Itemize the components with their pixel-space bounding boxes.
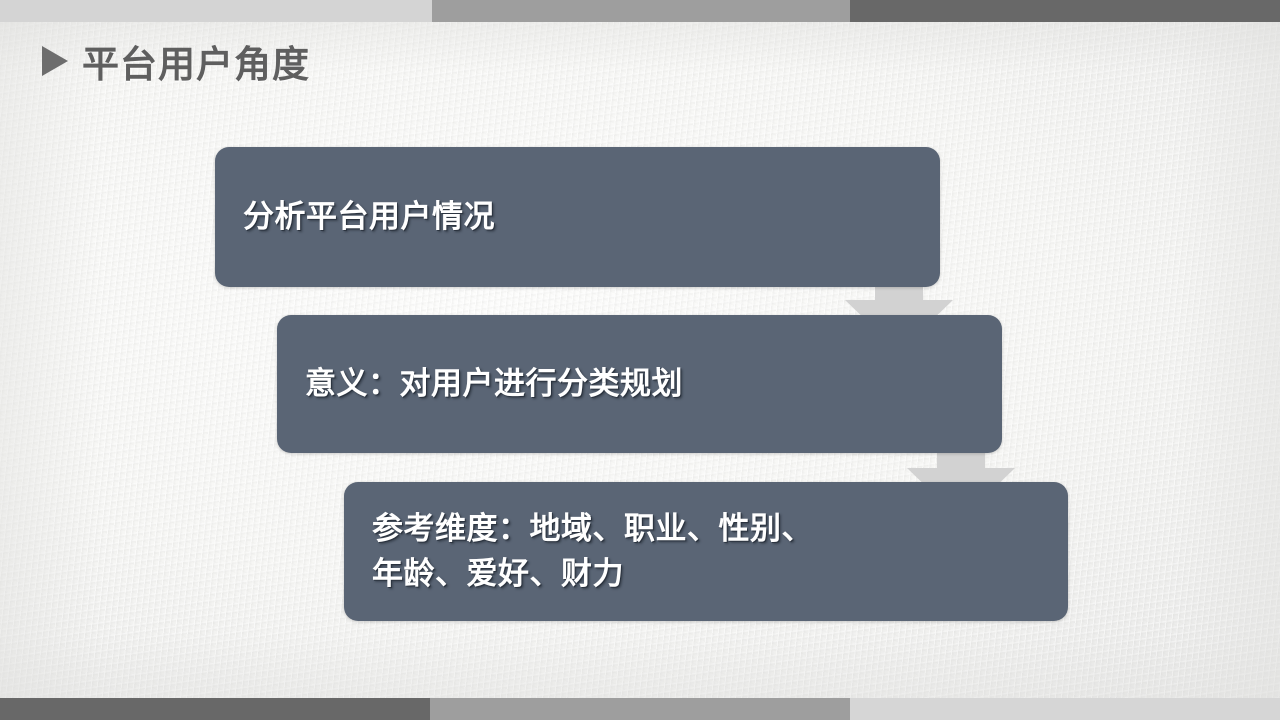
bottom-bar-segment-dark: [0, 698, 430, 720]
content-box-analysis[interactable]: 分析平台用户情况: [215, 147, 940, 287]
slide-title-row: 平台用户角度: [42, 34, 310, 88]
play-triangle-icon: [42, 46, 68, 76]
slide-canvas: 平台用户角度 信游科技 www.52xinyou.com 分析平台用户情况 意义…: [0, 0, 1280, 720]
bottom-bar-segment-medium: [430, 698, 850, 720]
content-box-meaning[interactable]: 意义：对用户进行分类规划: [277, 315, 1002, 453]
bottom-bar-segment-light: [850, 698, 1280, 720]
content-box-text: 分析平台用户情况: [215, 195, 495, 240]
top-bar-segment-medium: [432, 0, 850, 22]
page-title: 平台用户角度: [82, 34, 310, 88]
content-box-text: 参考维度：地域、职业、性别、 年龄、爱好、财力: [344, 507, 813, 597]
top-bar-segment-light: [0, 0, 432, 22]
top-decoration-bar: [0, 0, 1280, 22]
top-bar-segment-dark: [850, 0, 1280, 22]
content-box-dimensions[interactable]: 参考维度：地域、职业、性别、 年龄、爱好、财力: [344, 482, 1068, 621]
bottom-decoration-bar: [0, 698, 1280, 720]
content-box-text: 意义：对用户进行分类规划: [277, 362, 683, 407]
